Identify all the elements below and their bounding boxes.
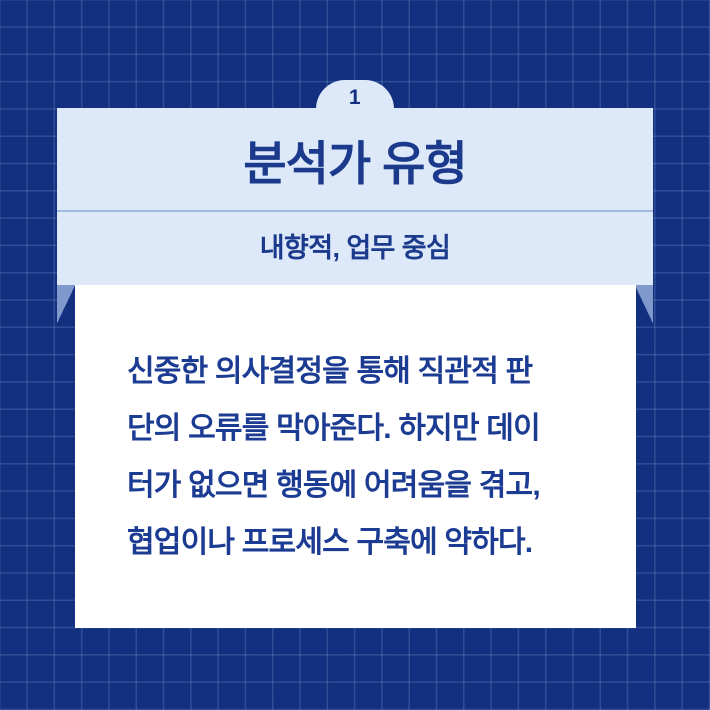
- ribbon-fold-right-icon: [634, 285, 653, 325]
- header-ribbon-card: 분석가 유형 내향적, 업무 중심: [57, 108, 653, 285]
- card-stage: 1 분석가 유형 내향적, 업무 중심 신중한 의사결정을 통해 직관적 판 단…: [0, 0, 710, 710]
- card-title: 분석가 유형: [243, 140, 466, 187]
- step-number-label: 1: [349, 87, 361, 108]
- description-line: 신중한 의사결정을 통해 직관적 판: [127, 343, 616, 400]
- description-line: 협업이나 프로세스 구축에 약하다.: [127, 514, 616, 571]
- card-subtitle: 내향적, 업무 중심: [260, 235, 450, 262]
- step-number-badge: 1: [316, 80, 394, 109]
- subtitle-zone: 내향적, 업무 중심: [57, 212, 653, 285]
- description-line: 단의 오류를 막아준다. 하지만 데이: [127, 400, 616, 457]
- title-zone: 분석가 유형: [57, 108, 653, 210]
- ribbon-fold-left-icon: [57, 285, 76, 325]
- description-panel: 신중한 의사결정을 통해 직관적 판 단의 오류를 막아준다. 하지만 데이 터…: [75, 285, 636, 628]
- description-line: 터가 없으면 행동에 어려움을 겪고,: [127, 457, 616, 514]
